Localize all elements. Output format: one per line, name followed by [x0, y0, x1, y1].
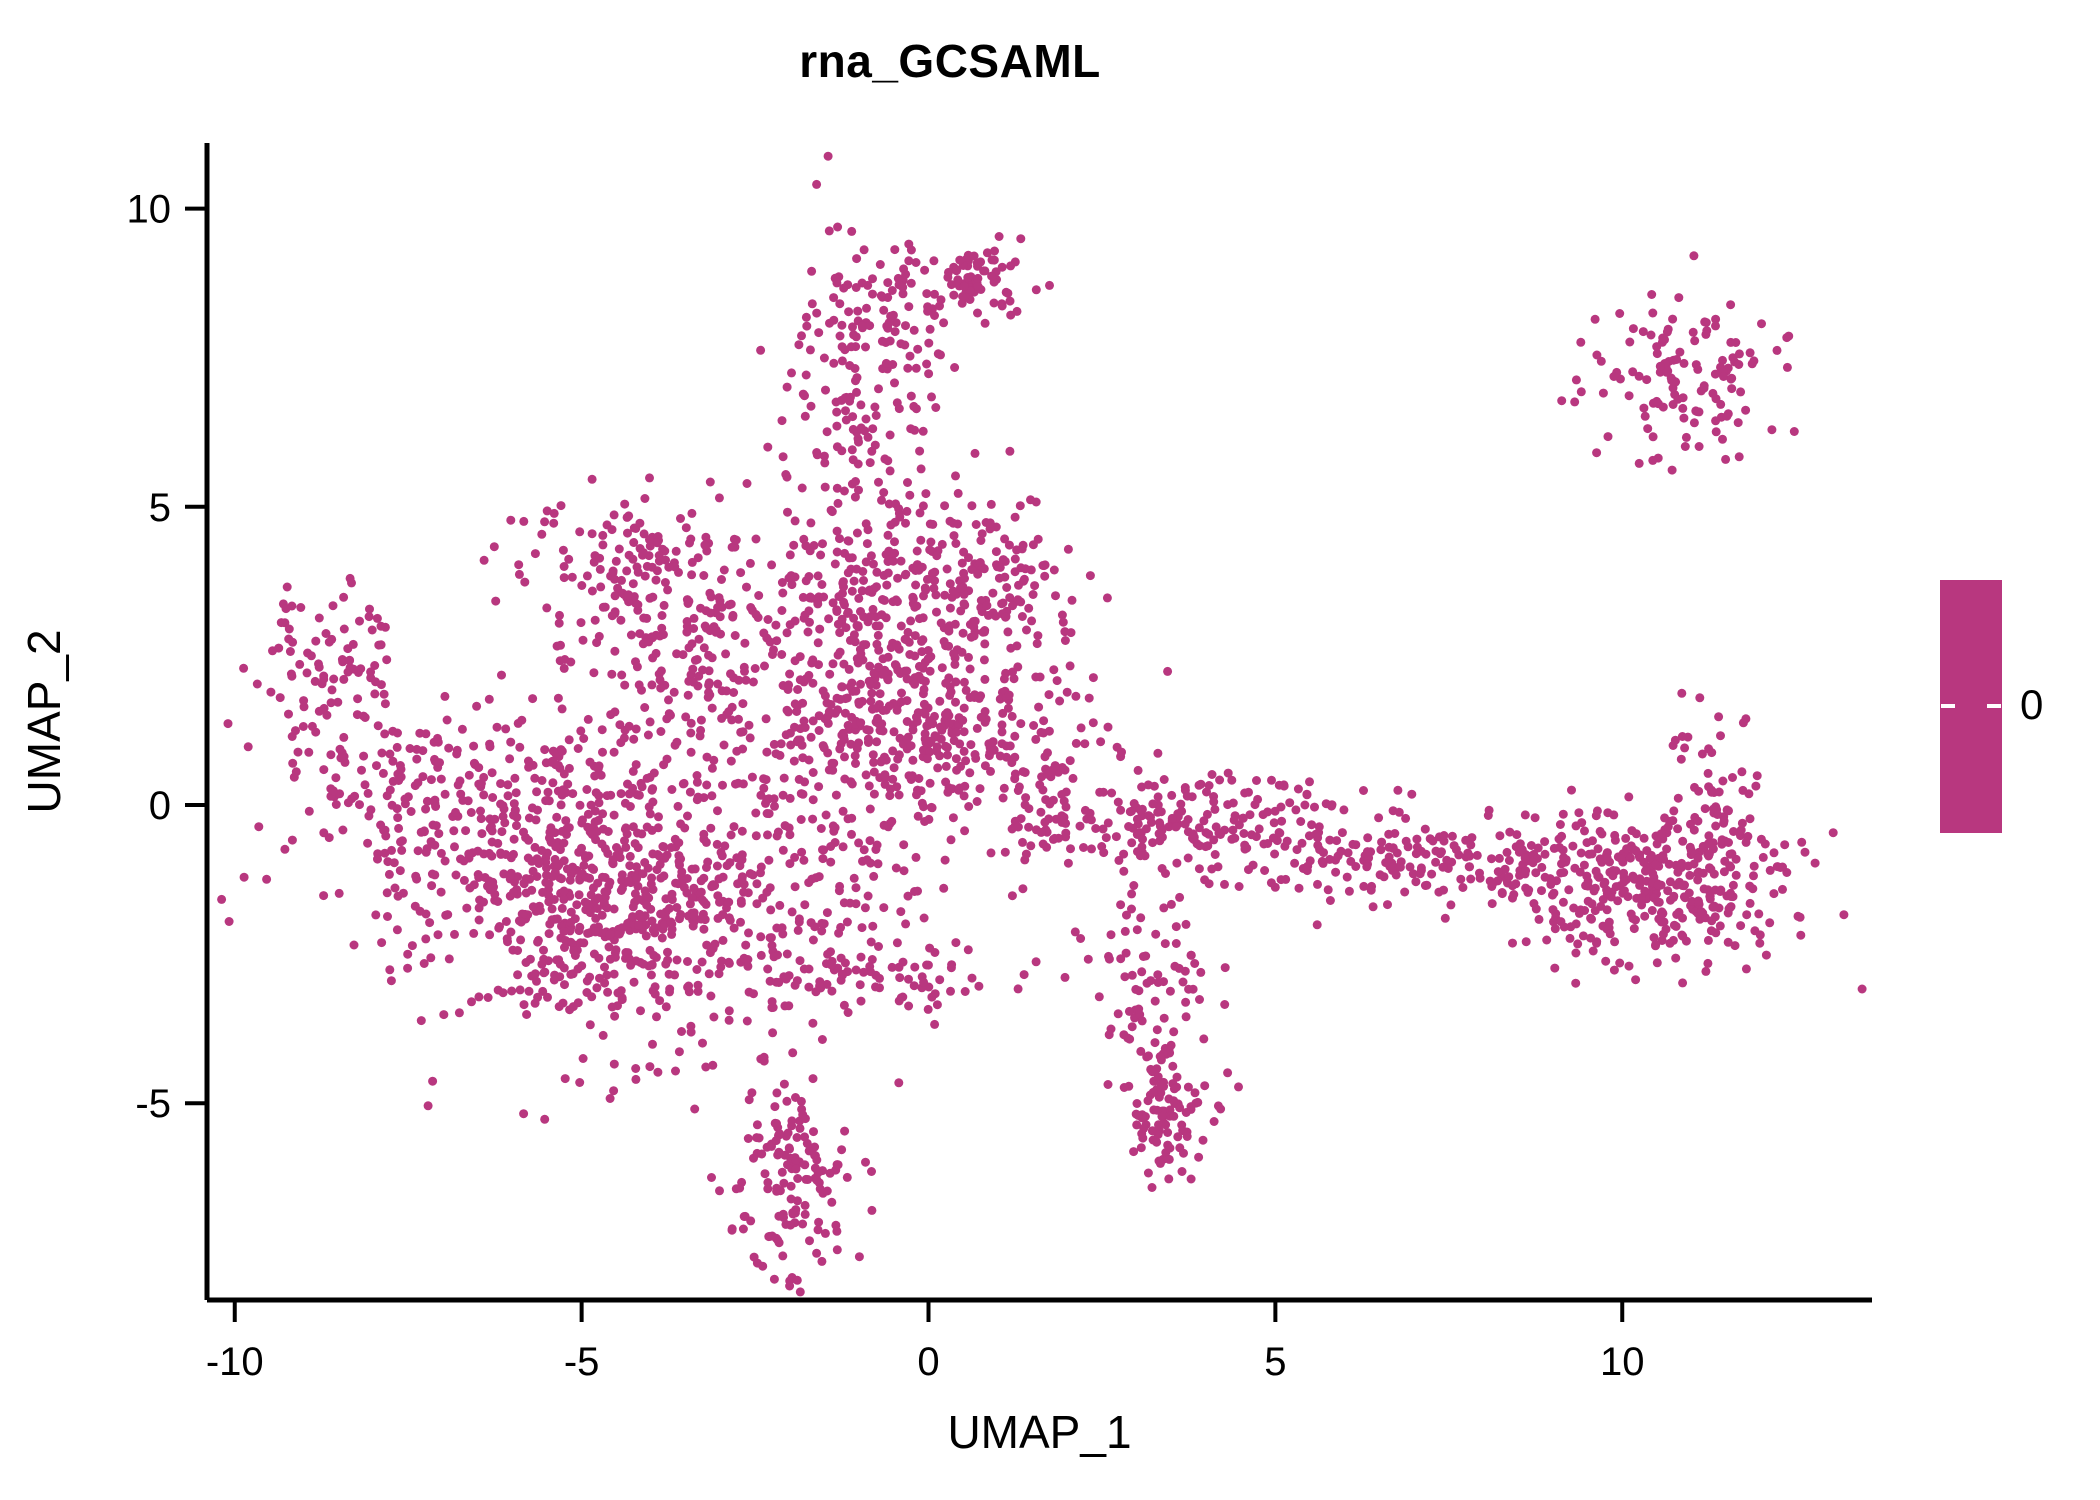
- colorbar-tick-right-icon: [1987, 704, 2001, 708]
- x-axis-tick-label: -5: [564, 1340, 600, 1384]
- colorbar-tick-label: 0: [2020, 680, 2043, 730]
- x-axis-tick-label: 10: [1600, 1340, 1645, 1384]
- scatter-plot-canvas: -10-505101050-5UMAP_1UMAP_2: [0, 0, 2100, 1500]
- axes-layer: -10-505101050-5UMAP_1UMAP_2: [18, 143, 1872, 1458]
- x-axis-title: UMAP_1: [947, 1406, 1131, 1458]
- y-axis-tick-label: 10: [127, 188, 172, 232]
- colorbar-legend: 0: [1940, 580, 2080, 840]
- colorbar-tick-left-icon: [1941, 704, 1955, 708]
- y-axis-title: UMAP_2: [18, 629, 70, 813]
- umap-figure: rna_GCSAML -10-505101050-5UMAP_1UMAP_2 0: [0, 0, 2100, 1500]
- y-axis-tick-label: 0: [149, 784, 171, 828]
- y-axis-tick-label: -5: [135, 1082, 171, 1126]
- data-points-layer: [217, 152, 1867, 1297]
- y-axis-tick-label: 5: [149, 486, 171, 530]
- x-axis-tick-label: 0: [917, 1340, 939, 1384]
- x-axis-tick-label: -10: [206, 1340, 264, 1384]
- x-axis-tick-label: 5: [1264, 1340, 1286, 1384]
